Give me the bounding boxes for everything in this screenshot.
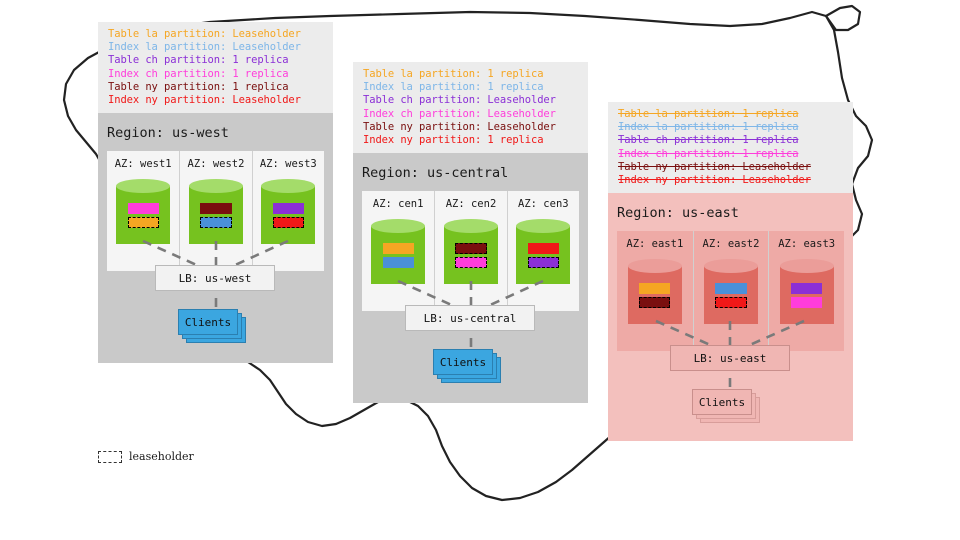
az-label: AZ: east3	[778, 238, 835, 250]
az-east2[interactable]: AZ: east2	[693, 231, 769, 351]
partition-stripe-leaseholder	[528, 257, 559, 268]
az-label: AZ: cen3	[518, 198, 569, 210]
database-cylinder[interactable]	[444, 219, 498, 291]
az-label: AZ: east2	[703, 238, 760, 250]
partition-stripe-leaseholder	[200, 217, 231, 228]
partition-stripe-leaseholder	[715, 297, 746, 308]
legend-line: Index ny partition: Leaseholder	[618, 174, 843, 187]
leaseholder-key: leaseholder	[98, 450, 194, 463]
database-cylinder[interactable]	[516, 219, 570, 291]
az-row: AZ: west1 AZ: west2	[107, 151, 324, 271]
clients-us-central[interactable]: Clients	[433, 349, 505, 385]
partition-stripe	[791, 297, 822, 308]
legend-line: Table la partition: 1 replica	[618, 108, 843, 121]
legend-line: Table ny partition: 1 replica	[108, 81, 323, 94]
database-cylinder[interactable]	[116, 179, 170, 251]
region-us-central: Region: us-central AZ: cen1 AZ: cen2	[353, 153, 588, 403]
load-balancer-us-west[interactable]: LB: us-west	[155, 265, 275, 291]
az-label: AZ: west3	[260, 158, 317, 170]
legend-line: Index ch partition: Leaseholder	[363, 108, 578, 121]
legend-line: Index ny partition: Leaseholder	[108, 94, 323, 107]
az-label: AZ: east1	[626, 238, 683, 250]
legend-us-east: Table la partition: 1 replica Index la p…	[608, 102, 853, 193]
region-us-east: Region: us-east AZ: east1 AZ: east2	[608, 193, 853, 441]
partition-stripe-leaseholder	[455, 243, 486, 254]
clients-label: Clients	[433, 349, 493, 375]
partition-stripe	[200, 203, 231, 214]
az-cen2[interactable]: AZ: cen2	[434, 191, 506, 311]
diagram-canvas: Region: us-west AZ: west1 AZ: west2	[0, 0, 960, 540]
az-label: AZ: west1	[115, 158, 172, 170]
az-east1[interactable]: AZ: east1	[617, 231, 693, 351]
partition-stripe	[791, 283, 822, 294]
database-cylinder[interactable]	[628, 259, 682, 331]
leaseholder-swatch-icon	[98, 451, 122, 463]
leaseholder-key-label: leaseholder	[129, 450, 194, 463]
az-row: AZ: east1 AZ: east2	[617, 231, 844, 351]
legend-line: Table ch partition: 1 replica	[618, 134, 843, 147]
legend-line: Table ch partition: Leaseholder	[363, 94, 578, 107]
az-west2[interactable]: AZ: west2	[179, 151, 251, 271]
partition-stripe-leaseholder	[273, 217, 304, 228]
partition-stripe	[273, 203, 304, 214]
legend-line: Table ch partition: 1 replica	[108, 54, 323, 67]
partition-stripe	[383, 257, 414, 268]
load-balancer-us-east[interactable]: LB: us-east	[670, 345, 790, 371]
az-label: AZ: cen2	[446, 198, 497, 210]
legend-line: Table la partition: Leaseholder	[108, 28, 323, 41]
legend-line: Index ch partition: 1 replica	[618, 148, 843, 161]
region-title: Region: us-east	[617, 205, 739, 221]
database-cylinder[interactable]	[704, 259, 758, 331]
partition-stripe	[128, 203, 159, 214]
database-cylinder[interactable]	[261, 179, 315, 251]
clients-us-east[interactable]: Clients	[692, 389, 764, 425]
database-cylinder[interactable]	[189, 179, 243, 251]
region-title: Region: us-central	[362, 165, 508, 181]
partition-stripe	[715, 283, 746, 294]
partition-stripe	[528, 243, 559, 254]
legend-us-west: Table la partition: Leaseholder Index la…	[98, 22, 333, 113]
legend-line: Table ny partition: Leaseholder	[363, 121, 578, 134]
legend-us-central: Table la partition: 1 replica Index la p…	[353, 62, 588, 153]
clients-us-west[interactable]: Clients	[178, 309, 250, 345]
legend-line: Index la partition: 1 replica	[618, 121, 843, 134]
az-label: AZ: west2	[188, 158, 245, 170]
legend-line: Index ny partition: 1 replica	[363, 134, 578, 147]
partition-stripe	[639, 283, 670, 294]
partition-stripe-leaseholder	[639, 297, 670, 308]
az-row: AZ: cen1 AZ: cen2	[362, 191, 579, 311]
az-cen3[interactable]: AZ: cen3	[507, 191, 579, 311]
legend-line: Index ch partition: 1 replica	[108, 68, 323, 81]
legend-line: Index la partition: 1 replica	[363, 81, 578, 94]
az-cen1[interactable]: AZ: cen1	[362, 191, 434, 311]
legend-line: Table ny partition: Leaseholder	[618, 161, 843, 174]
az-west3[interactable]: AZ: west3	[252, 151, 324, 271]
clients-label: Clients	[178, 309, 238, 335]
partition-stripe	[383, 243, 414, 254]
region-title: Region: us-west	[107, 125, 229, 141]
database-cylinder[interactable]	[371, 219, 425, 291]
legend-line: Table la partition: 1 replica	[363, 68, 578, 81]
partition-stripe-leaseholder	[455, 257, 486, 268]
clients-label: Clients	[692, 389, 752, 415]
az-east3[interactable]: AZ: east3	[768, 231, 844, 351]
legend-line: Index la partition: Leaseholder	[108, 41, 323, 54]
load-balancer-us-central[interactable]: LB: us-central	[405, 305, 535, 331]
region-us-west: Region: us-west AZ: west1 AZ: west2	[98, 113, 333, 363]
az-west1[interactable]: AZ: west1	[107, 151, 179, 271]
partition-stripe-leaseholder	[128, 217, 159, 228]
database-cylinder[interactable]	[780, 259, 834, 331]
az-label: AZ: cen1	[373, 198, 424, 210]
